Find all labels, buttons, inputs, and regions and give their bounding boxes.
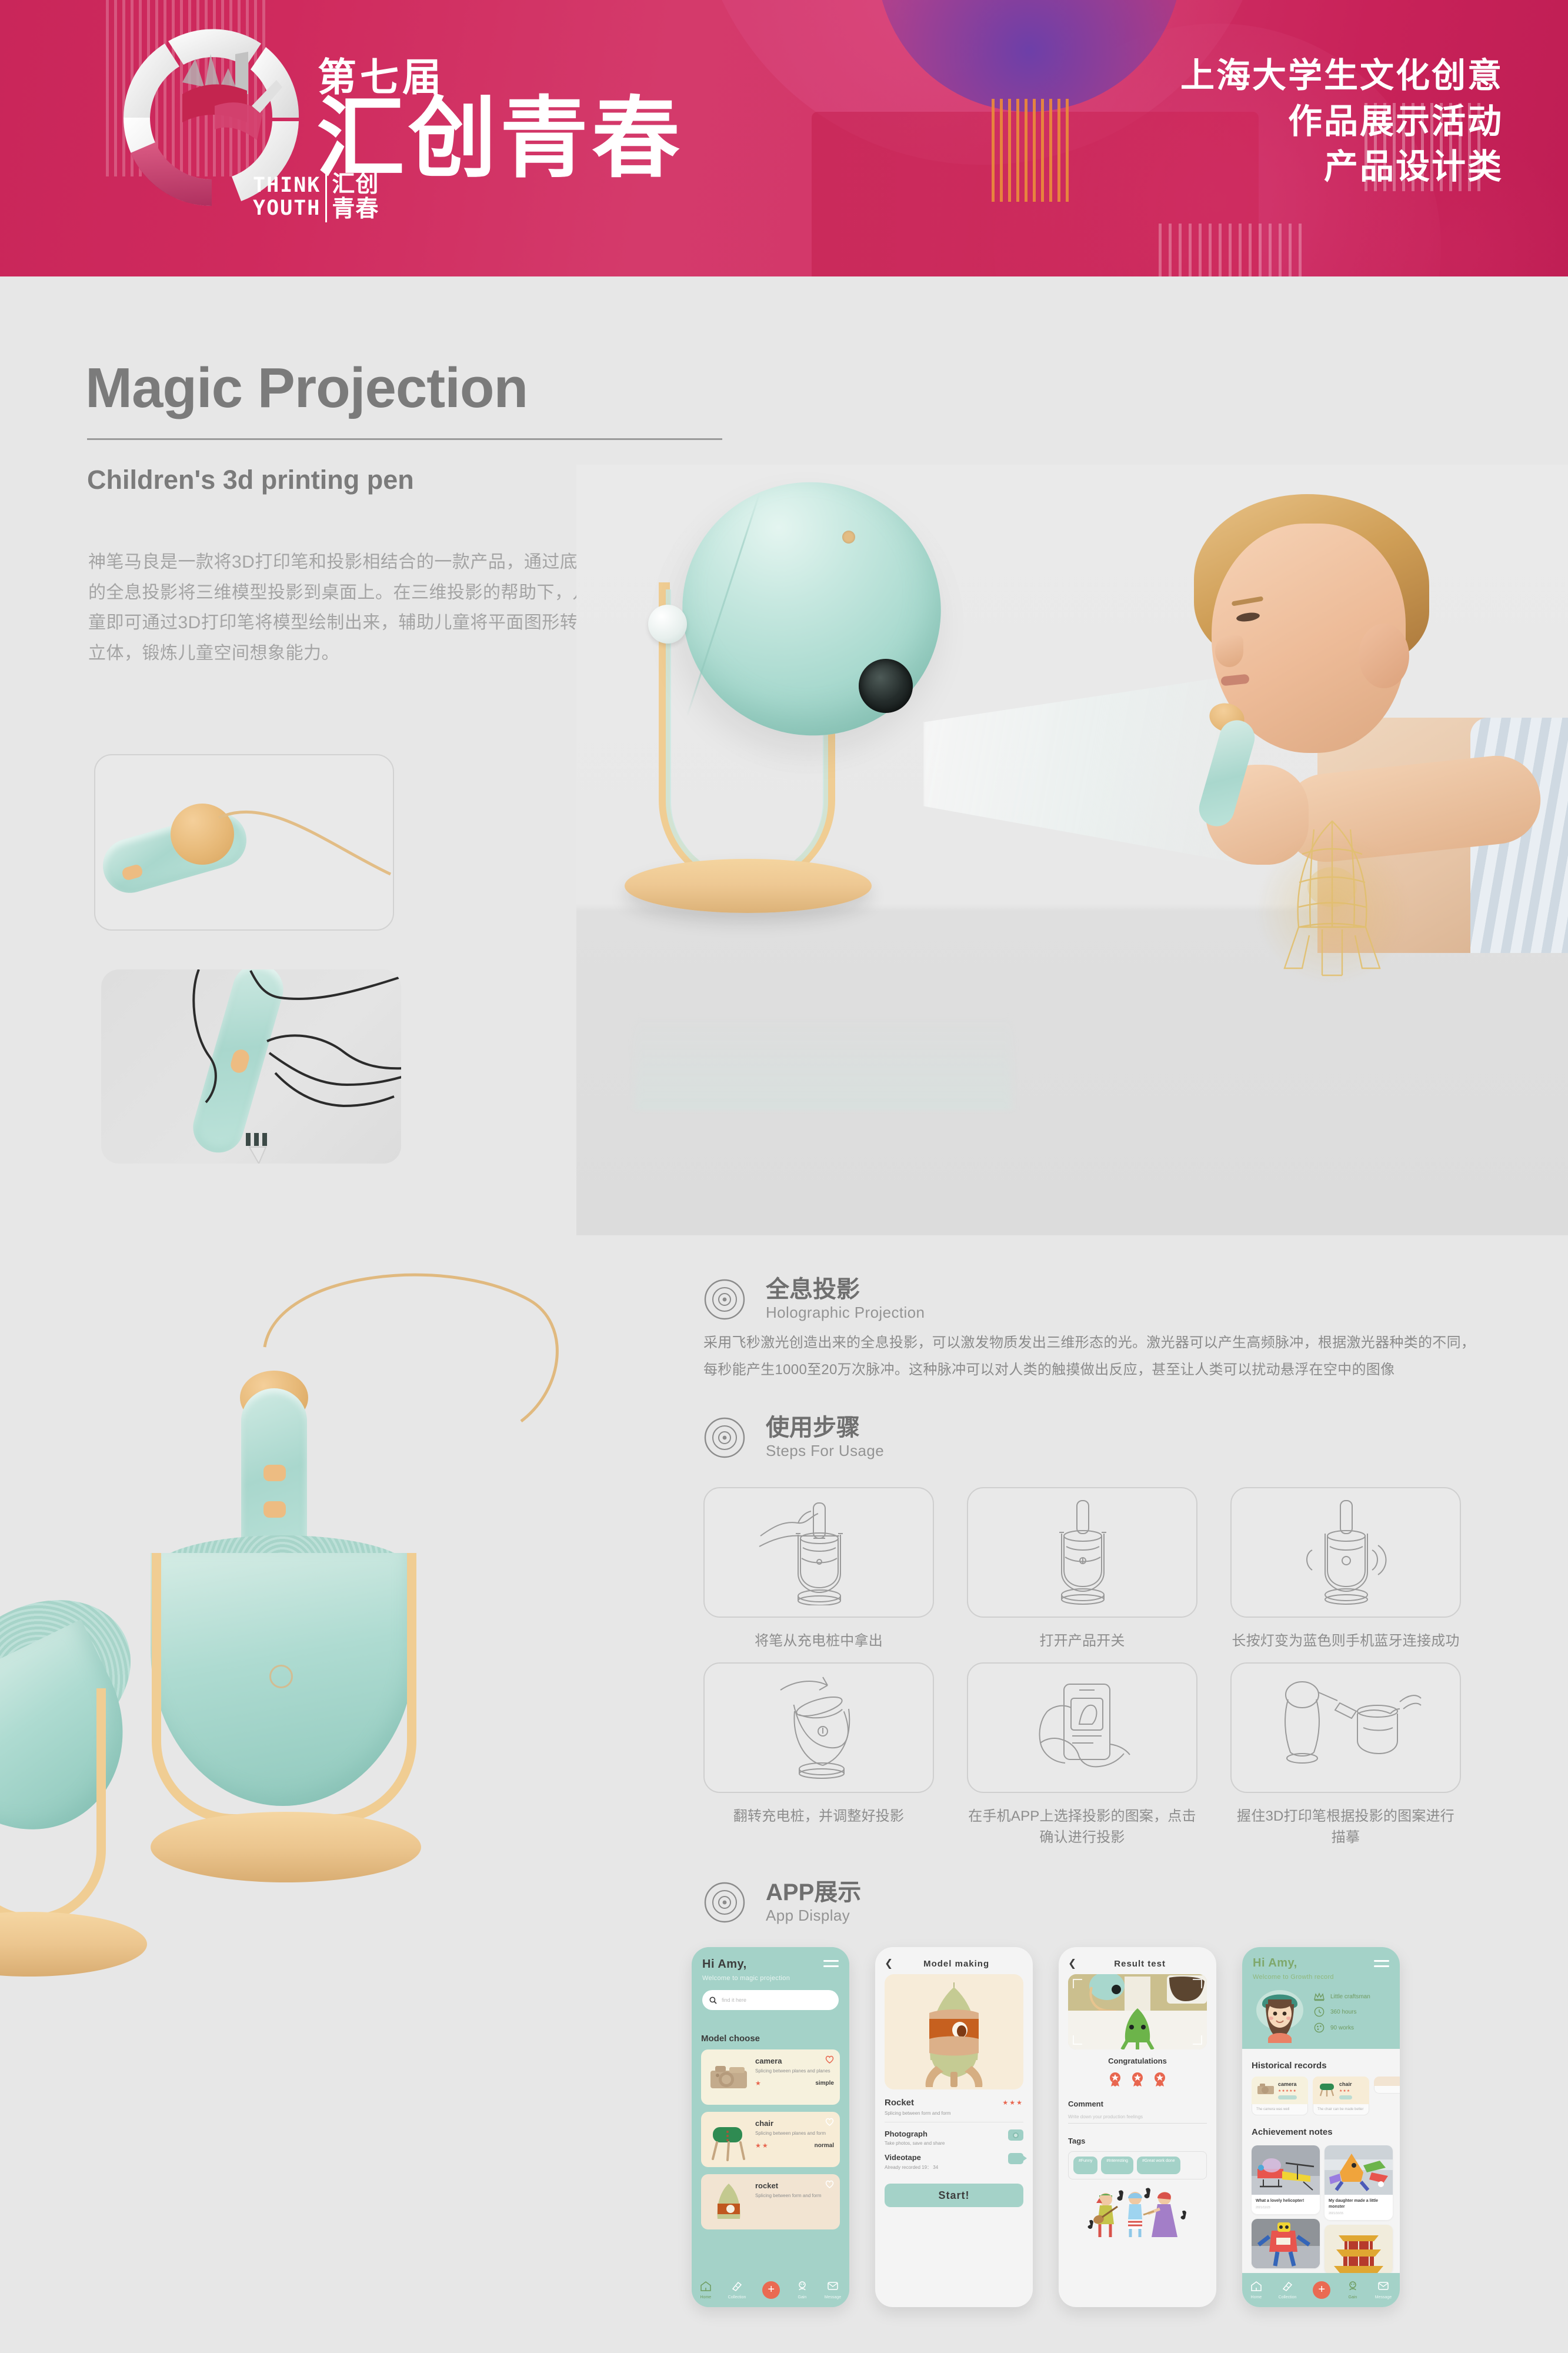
nav-label: Home — [700, 2295, 712, 2299]
gain-avatar-icon — [1347, 2281, 1359, 2291]
nav-label: Collection — [728, 2295, 746, 2299]
stat-item: 360 hours — [1314, 2007, 1389, 2017]
nav-item-home[interactable]: Home — [700, 2281, 712, 2299]
nav-item-gain[interactable]: Gain — [796, 2281, 808, 2299]
back-chevron-icon[interactable]: ❮ — [885, 1958, 893, 1969]
model-name: chair — [755, 2119, 834, 2128]
message-envelope-icon — [827, 2281, 839, 2291]
model-choose-title: Model choose — [701, 2034, 840, 2044]
hero-reflection — [635, 1014, 1012, 1111]
welcome-text: Welcome to magic projection — [702, 1975, 839, 1982]
nav-label: Message — [1375, 2295, 1392, 2299]
projector-button — [842, 531, 855, 544]
achievement-notes-grid: What a lovely helicopter! 2021/11/23 — [1242, 2145, 1400, 2274]
history-card-partial[interactable] — [1374, 2077, 1400, 2115]
message-envelope-icon — [1377, 2281, 1389, 2291]
stats-list: Little craftsman 360 hours — [1314, 1992, 1389, 2043]
history-card-top: camera ★★★★★ — [1252, 2077, 1308, 2104]
flip-dock-icon — [757, 1675, 880, 1781]
greeting-text: Hi Amy, — [702, 1958, 839, 1971]
power-switch-icon — [1020, 1499, 1144, 1605]
musician-kids-icon — [1085, 2188, 1190, 2241]
note-image — [1325, 2145, 1393, 2195]
comment-label: Comment — [1059, 2099, 1216, 2108]
difficulty-label: normal — [815, 2142, 834, 2149]
step-caption: 握住3D打印笔根据投影的图案进行描摹 — [1230, 1806, 1461, 1848]
section-title-en: Holographic Projection — [766, 1303, 925, 1322]
search-placeholder: find it here — [722, 1997, 746, 2003]
difficulty-stars: ★ — [755, 2079, 762, 2087]
nav-item-collection[interactable]: Collection — [1279, 2281, 1297, 2299]
result-photo — [1068, 1974, 1207, 2049]
nav-label: Collection — [1279, 2295, 1297, 2299]
option-subtitle: Take photos, save and share — [885, 2141, 945, 2146]
heart-icon[interactable] — [825, 2118, 834, 2128]
step-illustration-card — [703, 1662, 934, 1793]
option-subtitle: Already recorded 19： 34 — [885, 2164, 938, 2171]
monster-photo — [1325, 2145, 1393, 2195]
pagoda-photo — [1325, 2225, 1393, 2274]
hand-outline-icon — [175, 969, 401, 1164]
nav-label: Home — [1250, 2295, 1262, 2299]
bottom-navigation: Home Collection + Gain — [1242, 2273, 1400, 2307]
start-button[interactable]: Start! — [885, 2184, 1023, 2207]
difficulty-label: simple — [815, 2080, 834, 2087]
option-title: Videotape — [885, 2153, 938, 2162]
camera-thumbnail — [707, 2055, 750, 2099]
option-videotape[interactable]: Videotape Already recorded 19： 34 — [875, 2146, 1033, 2171]
rocket-thumbnail — [707, 2180, 750, 2224]
step-caption: 在手机APP上选择投影的图案，点击确认进行投影 — [967, 1806, 1197, 1848]
nav-label: Message — [825, 2295, 841, 2299]
history-card[interactable]: camera ★★★★★ The camera was well — [1252, 2077, 1308, 2115]
growth-body: Historical records — [1242, 2049, 1400, 2071]
clock-icon — [1314, 2007, 1325, 2017]
section-heading-steps: 使用步骤 Steps For Usage — [703, 1415, 884, 1460]
stat-text: Little craftsman — [1330, 1994, 1370, 2000]
gain-avatar-icon — [796, 2281, 808, 2291]
section-title-cn: 使用步骤 — [766, 1415, 884, 1441]
model-description: Splicing between planes and planes — [755, 2068, 834, 2075]
search-icon — [709, 1997, 717, 2004]
greeting-text: Hi Amy, — [1253, 1957, 1389, 1970]
frame-corner-bl — [1073, 2035, 1082, 2045]
child-ear — [1359, 624, 1409, 688]
result-topbar: ❮ Result test — [1059, 1947, 1216, 1974]
projector-base — [625, 859, 872, 913]
nav-item-message[interactable]: Message — [825, 2281, 841, 2299]
step-item: 翻转充电桩，并调整好投影 — [703, 1662, 934, 1848]
robot-photo — [1252, 2219, 1320, 2268]
event-banner: THINK YOUTH 汇创 青春 第七届 汇创青春 上海大学生文化创意 作品展… — [0, 0, 1568, 276]
section-heading-holographic: 全息投影 Holographic Projection — [703, 1277, 925, 1322]
heart-icon[interactable] — [825, 2055, 834, 2065]
history-card-top: chair ★★★ — [1313, 2077, 1369, 2104]
note-card[interactable]: What a lovely helicopter! 2021/11/23 — [1252, 2145, 1320, 2214]
tags-label: Tags — [1059, 2137, 1216, 2145]
model-description: Splicing between form and form — [875, 2108, 1033, 2116]
crown-icon — [1314, 1992, 1325, 2001]
app-mockups: Hi Amy, Welcome to magic projection find… — [692, 1947, 1400, 2307]
note-date: 2021/11/23 — [1256, 2206, 1316, 2209]
screen-title: Model making — [899, 1959, 1014, 1969]
note-card-partial[interactable] — [1252, 2219, 1320, 2268]
step-item: 在手机APP上选择投影的图案，点击确认进行投影 — [967, 1662, 1197, 1848]
home-body: Model choose camera Splicing between pla… — [692, 2022, 849, 2245]
historical-records-title: Historical records — [1252, 2061, 1390, 2071]
nav-item-home[interactable]: Home — [1250, 2281, 1262, 2299]
history-model-name: chair — [1339, 2081, 1352, 2087]
step-caption: 翻转充电桩，并调整好投影 — [703, 1806, 934, 1827]
step-caption: 打开产品开关 — [967, 1631, 1197, 1652]
step-item: 握住3D打印笔根据投影的图案进行描摹 — [1230, 1662, 1461, 1848]
menu-icon[interactable] — [823, 1960, 839, 1971]
history-stars: ★★★ — [1339, 2089, 1352, 2093]
comment-input[interactable]: Write down your production feelings — [1068, 2114, 1207, 2124]
option-photograph[interactable]: Photograph Take photos, save and share — [875, 2122, 1033, 2146]
nav-item-collection[interactable]: Collection — [728, 2281, 746, 2299]
screen-title: Result test — [1082, 1959, 1197, 1969]
notes-header: Achievement notes — [1242, 2115, 1400, 2145]
child-using-product — [1106, 488, 1568, 947]
palette-icon — [1314, 2022, 1325, 2033]
award-badges — [1059, 2071, 1216, 2087]
nav-item-gain[interactable]: Gain — [1347, 2281, 1359, 2299]
section-heading-app: APP展示 App Display — [703, 1879, 861, 1925]
sticker-illustration — [1059, 2188, 1216, 2241]
tag-chip[interactable]: #Great work done — [1137, 2157, 1180, 2174]
chair-thumbnail — [707, 2118, 750, 2161]
child-nose — [1215, 635, 1243, 667]
growth-header: Hi Amy, Welcome to Growth record — [1242, 1947, 1400, 2049]
back-chevron-icon[interactable]: ❮ — [1068, 1958, 1076, 1969]
hero-product-photo — [576, 465, 1568, 1235]
note-title: My daughter made a little monster — [1329, 2198, 1389, 2210]
model-description: Splicing between form and form — [755, 2192, 834, 2199]
tags-container: #Funny #Interesting #Great work done — [1068, 2151, 1207, 2179]
history-stars: ★★★★★ — [1278, 2089, 1297, 2093]
app-screen-growth-record: Hi Amy, Welcome to Growth record — [1242, 1947, 1400, 2307]
step-illustration-card — [967, 1487, 1197, 1618]
rocket-render — [913, 1980, 995, 2089]
add-button[interactable]: + — [1313, 2281, 1330, 2299]
history-comment — [1374, 2086, 1400, 2094]
think-youth-logo: THINK YOUTH 汇创 青春 — [94, 18, 329, 241]
model-name: rocket — [755, 2181, 834, 2190]
model-stars: ★★★ — [1002, 2099, 1023, 2107]
section-title-cn: 全息投影 — [766, 1277, 925, 1303]
holographic-paragraph: 采用飞秒激光创造出来的全息投影，可以激发物质发出三维形态的光。激光器可以产生高频… — [703, 1329, 1480, 1384]
stat-item: 90 works — [1314, 2022, 1389, 2033]
holographic-glow — [1259, 835, 1406, 982]
history-model-name: camera — [1278, 2081, 1297, 2087]
projector-device — [612, 482, 1023, 953]
detail-thumbnail-pen-hand — [101, 969, 401, 1164]
logo-youth-text: YOUTH — [253, 198, 321, 219]
product-photos-secondary — [0, 1277, 565, 2353]
step-illustration-card — [1230, 1662, 1461, 1793]
page-subtitle: Children's 3d printing pen — [87, 465, 414, 495]
step-item: 长按灯变为蓝色则手机蓝牙连接成功 — [1230, 1487, 1461, 1652]
banner-subtitle-line3: 产品设计类 — [1180, 144, 1503, 190]
title-divider — [87, 438, 722, 440]
logo-think-text: THINK — [253, 175, 321, 196]
logo-cn-line2: 青春 — [332, 197, 379, 222]
projector-hinge — [648, 605, 687, 644]
difficulty-stars: ★★ — [755, 2142, 769, 2149]
search-field[interactable]: find it here — [702, 1990, 839, 2010]
menu-icon[interactable] — [1374, 1960, 1389, 1971]
step-illustration-card — [703, 1487, 934, 1618]
model-making-topbar: ❮ Model making — [875, 1947, 1033, 1974]
helicopter-photo — [1252, 2145, 1320, 2195]
award-badge-icon — [1131, 2071, 1144, 2087]
award-badge-icon — [1153, 2071, 1166, 2087]
heart-icon[interactable] — [825, 2180, 834, 2190]
collection-icon — [1282, 2281, 1293, 2291]
collection-icon — [731, 2281, 743, 2291]
history-card[interactable]: chair ★★★ The chair can be made better — [1313, 2077, 1369, 2115]
stat-item: Little craftsman — [1314, 1992, 1389, 2001]
pen-nozzle-icon — [241, 1133, 276, 1164]
history-card-top — [1374, 2077, 1400, 2086]
nav-item-message[interactable]: Message — [1375, 2281, 1392, 2299]
section-title-en: App Display — [766, 1906, 861, 1925]
note-image — [1325, 2225, 1393, 2274]
frame-corner-tl — [1073, 1979, 1082, 1988]
model-description: Splicing between planes and form — [755, 2130, 834, 2137]
holographic-rocket — [1253, 818, 1412, 988]
frame-corner-br — [1193, 2035, 1202, 2045]
history-comment: The chair can be made better — [1313, 2104, 1369, 2115]
banner-subtitle-group: 上海大学生文化创意 作品展示活动 产品设计类 — [1180, 53, 1503, 190]
rocket-preview-image — [885, 1974, 1023, 2089]
step-illustration-card — [967, 1662, 1197, 1793]
add-button[interactable]: + — [762, 2281, 780, 2299]
banner-main-title: 汇创青春 — [316, 94, 683, 182]
model-list-item[interactable]: rocket Splicing between form and form — [701, 2174, 840, 2229]
tag-chip[interactable]: #Funny — [1073, 2157, 1097, 2174]
hand-pull-pen-icon — [757, 1499, 880, 1605]
trace-pattern-icon — [1269, 1675, 1422, 1781]
app-screen-model-making: ❮ Model making Rocket ★★★ Splicing betw — [875, 1947, 1033, 2307]
achievement-notes-title: Achievement notes — [1252, 2127, 1390, 2137]
banner-blob-purple — [876, 0, 1182, 112]
note-title: What a lovely helicopter! — [1256, 2198, 1316, 2204]
model-name: Rocket — [885, 2098, 914, 2108]
target-rings-icon — [703, 1278, 746, 1321]
model-name: camera — [755, 2057, 834, 2065]
note-image — [1252, 2219, 1320, 2268]
model-list-item[interactable]: chair Splicing between planes and form ★… — [701, 2112, 840, 2167]
bottom-navigation: Home Collection + Gain — [692, 2273, 849, 2307]
frame-corner-tr — [1193, 1979, 1202, 1988]
phone-select-pattern-icon — [1020, 1675, 1144, 1781]
option-title: Photograph — [885, 2129, 945, 2138]
tag-chip[interactable]: #Interesting — [1101, 2157, 1133, 2174]
stat-text: 360 hours — [1330, 2009, 1356, 2015]
stat-text: 90 works — [1330, 2025, 1354, 2031]
section-title-cn: APP展示 — [766, 1879, 861, 1906]
detail-thumbnail-pen-cable — [94, 754, 394, 931]
projector-lens — [859, 659, 913, 713]
welcome-text: Welcome to Growth record — [1253, 1974, 1389, 1981]
bluetooth-light-icon — [1284, 1499, 1407, 1605]
history-progress — [1278, 2095, 1297, 2099]
camera-icon[interactable] — [1008, 2129, 1023, 2141]
nav-label: Gain — [1347, 2295, 1359, 2299]
result-scene — [1068, 1974, 1207, 2049]
historical-records-list: camera ★★★★★ The camera was well chair ★… — [1242, 2077, 1400, 2115]
target-rings-icon — [703, 1417, 746, 1459]
note-card-partial[interactable] — [1325, 2225, 1393, 2274]
camera-thumbnail — [1256, 2081, 1275, 2097]
page-title: Magic Projection — [85, 356, 528, 421]
videocam-icon[interactable] — [1008, 2153, 1023, 2164]
chair-thumbnail — [1317, 2081, 1336, 2097]
target-rings-icon — [703, 1881, 746, 1924]
nav-label: Gain — [796, 2295, 808, 2299]
note-date: 2021/10/15 — [1329, 2212, 1389, 2215]
note-card[interactable]: My daughter made a little monster 2021/1… — [1325, 2145, 1393, 2220]
usage-steps-grid: 将笔从充电桩中拿出 — [703, 1487, 1461, 1848]
pen-cable-icon — [216, 806, 393, 886]
award-badge-icon — [1109, 2071, 1122, 2087]
step-caption: 将笔从充电桩中拿出 — [703, 1631, 934, 1652]
banner-subtitle-line1: 上海大学生文化创意 — [1180, 53, 1503, 99]
section-title-en: Steps For Usage — [766, 1441, 884, 1461]
home-header: Hi Amy, Welcome to magic projection find… — [692, 1947, 849, 2022]
history-progress — [1339, 2095, 1352, 2099]
model-title-row: Rocket ★★★ — [875, 2089, 1033, 2108]
step-caption: 长按灯变为蓝色则手机蓝牙连接成功 — [1230, 1631, 1461, 1652]
congrats-text: Congratulations — [1059, 2057, 1216, 2065]
history-comment: The camera was well — [1252, 2104, 1308, 2115]
model-list-item[interactable]: camera Splicing between planes and plane… — [701, 2049, 840, 2105]
product-description: 神笔马良是一款将3D打印笔和投影相结合的一款产品，通过底部的全息投影将三维模型投… — [88, 547, 606, 668]
note-image — [1252, 2145, 1320, 2195]
banner-subtitle-line2: 作品展示活动 — [1180, 99, 1503, 145]
app-screen-result-test: ❮ Result test Co — [1059, 1947, 1216, 2307]
step-item: 将笔从充电桩中拿出 — [703, 1487, 934, 1652]
step-illustration-card — [1230, 1487, 1461, 1618]
app-screen-home: Hi Amy, Welcome to magic projection find… — [692, 1947, 849, 2307]
avatar — [1253, 1984, 1307, 2043]
home-icon — [700, 2281, 712, 2291]
home-icon — [1250, 2281, 1262, 2291]
step-item: 打开产品开关 — [967, 1487, 1197, 1652]
